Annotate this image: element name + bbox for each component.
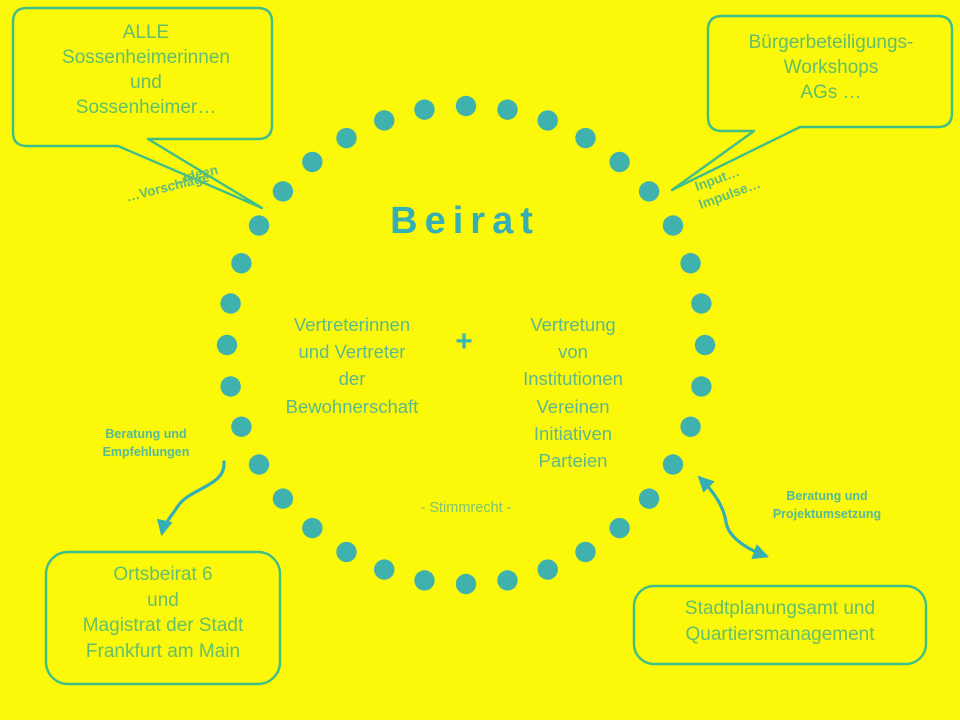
ring-dot bbox=[220, 376, 240, 396]
ring-dot bbox=[680, 417, 700, 437]
ring-dot bbox=[497, 570, 517, 590]
ring-dot bbox=[639, 181, 659, 201]
ring-dot bbox=[456, 574, 476, 594]
ring-dot bbox=[249, 454, 269, 474]
ring-dot bbox=[302, 152, 322, 172]
ring-footnote: - Stimmrecht - bbox=[368, 500, 564, 516]
ring-dot bbox=[609, 518, 629, 538]
ring-column-right: VertretungvonInstitutionenVereinenInitia… bbox=[485, 311, 661, 474]
ring-dot bbox=[231, 417, 251, 437]
ring-dot bbox=[538, 110, 558, 130]
ring-column-left: Vertreterinnenund VertreterderBewohnersc… bbox=[258, 311, 446, 420]
ring-dot bbox=[414, 570, 434, 590]
ring-dot bbox=[609, 152, 629, 172]
diagram-canvas: ALLESossenheimerinnenundSossenheimer… Bü… bbox=[0, 0, 960, 720]
ring-dot bbox=[414, 99, 434, 119]
flow-label-left: Beratung undEmpfehlungen bbox=[76, 426, 216, 462]
ring-dot bbox=[273, 488, 293, 508]
ring-dot bbox=[336, 542, 356, 562]
ring-dot bbox=[538, 559, 558, 579]
ring-dot bbox=[691, 293, 711, 313]
ring-dot bbox=[302, 518, 322, 538]
ring-dot bbox=[374, 559, 394, 579]
ring-dot bbox=[680, 253, 700, 273]
box-bottom-right-text: Stadtplanungsamt undQuartiersmanagement bbox=[640, 596, 920, 647]
box-bottom-left-text: Ortsbeirat 6undMagistrat der StadtFrankf… bbox=[52, 562, 274, 665]
ring-dot bbox=[374, 110, 394, 130]
plus-icon: + bbox=[447, 327, 481, 357]
flow-label-right: Beratung undProjektumsetzung bbox=[742, 488, 912, 524]
bubble-top-left-text: ALLESossenheimerinnenundSossenheimer… bbox=[22, 20, 270, 120]
ring-dot bbox=[456, 96, 476, 116]
ring-dot bbox=[663, 215, 683, 235]
ring-dot bbox=[639, 488, 659, 508]
ring-dot bbox=[273, 181, 293, 201]
ring-dot bbox=[336, 128, 356, 148]
bubble-top-right-text: Bürgerbeteiligungs-WorkshopsAGs … bbox=[712, 30, 950, 105]
ring-dot bbox=[497, 99, 517, 119]
ring-dot bbox=[663, 454, 683, 474]
ring-dot bbox=[575, 128, 595, 148]
ring-dot bbox=[231, 253, 251, 273]
ring-dot bbox=[695, 335, 715, 355]
arrow-left-advice bbox=[162, 462, 224, 533]
ring-dot bbox=[217, 335, 237, 355]
ring-dot bbox=[691, 376, 711, 396]
ring-title: Beirat bbox=[265, 200, 665, 243]
ring-dot bbox=[220, 293, 240, 313]
ring-dot bbox=[575, 542, 595, 562]
